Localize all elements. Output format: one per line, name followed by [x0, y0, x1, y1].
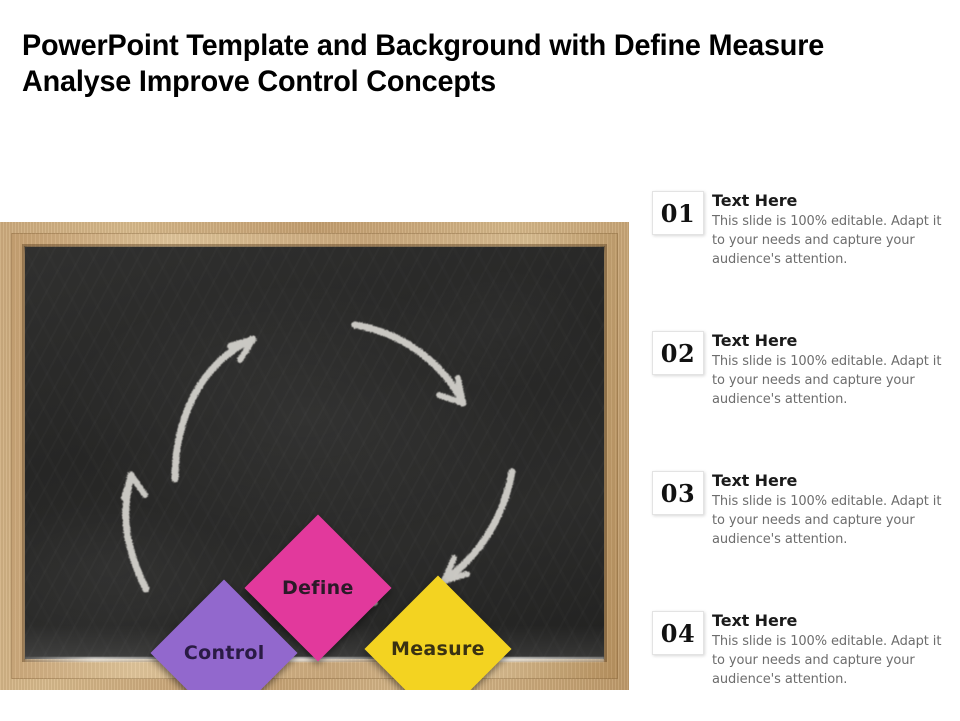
sticky-note-measure-label: Measure	[391, 638, 485, 660]
content-block-03: 03 Text Here This slide is 100% editable…	[652, 471, 952, 581]
content-block-04-description: This slide is 100% editable. Adapt it to…	[712, 632, 952, 689]
sticky-note-control-label: Control	[184, 642, 265, 664]
content-block-02-description: This slide is 100% editable. Adapt it to…	[712, 352, 952, 409]
content-block-02-heading: Text Here	[712, 331, 952, 351]
content-block-03-description: This slide is 100% editable. Adapt it to…	[712, 492, 952, 549]
content-block-03-heading: Text Here	[712, 471, 952, 491]
chalkboard-dmaic-image: Define Measure Analyze Improve Control	[0, 222, 629, 690]
content-block-04-body: Text Here This slide is 100% editable. A…	[712, 611, 952, 689]
content-block-01-description: This slide is 100% editable. Adapt it to…	[712, 212, 952, 269]
sticky-note-define-label: Define	[282, 577, 354, 599]
content-block-01: 01 Text Here This slide is 100% editable…	[652, 191, 952, 301]
content-block-01-heading: Text Here	[712, 191, 952, 211]
content-block-02-body: Text Here This slide is 100% editable. A…	[712, 331, 952, 409]
page-title: PowerPoint Template and Background with …	[22, 28, 886, 100]
number-badge-01: 01	[652, 191, 704, 235]
content-block-01-body: Text Here This slide is 100% editable. A…	[712, 191, 952, 269]
content-block-04: 04 Text Here This slide is 100% editable…	[652, 611, 952, 721]
number-badge-04: 04	[652, 611, 704, 655]
number-badge-03: 03	[652, 471, 704, 515]
content-block-03-body: Text Here This slide is 100% editable. A…	[712, 471, 952, 549]
number-badge-02: 02	[652, 331, 704, 375]
content-block-02: 02 Text Here This slide is 100% editable…	[652, 331, 952, 441]
content-block-04-heading: Text Here	[712, 611, 952, 631]
